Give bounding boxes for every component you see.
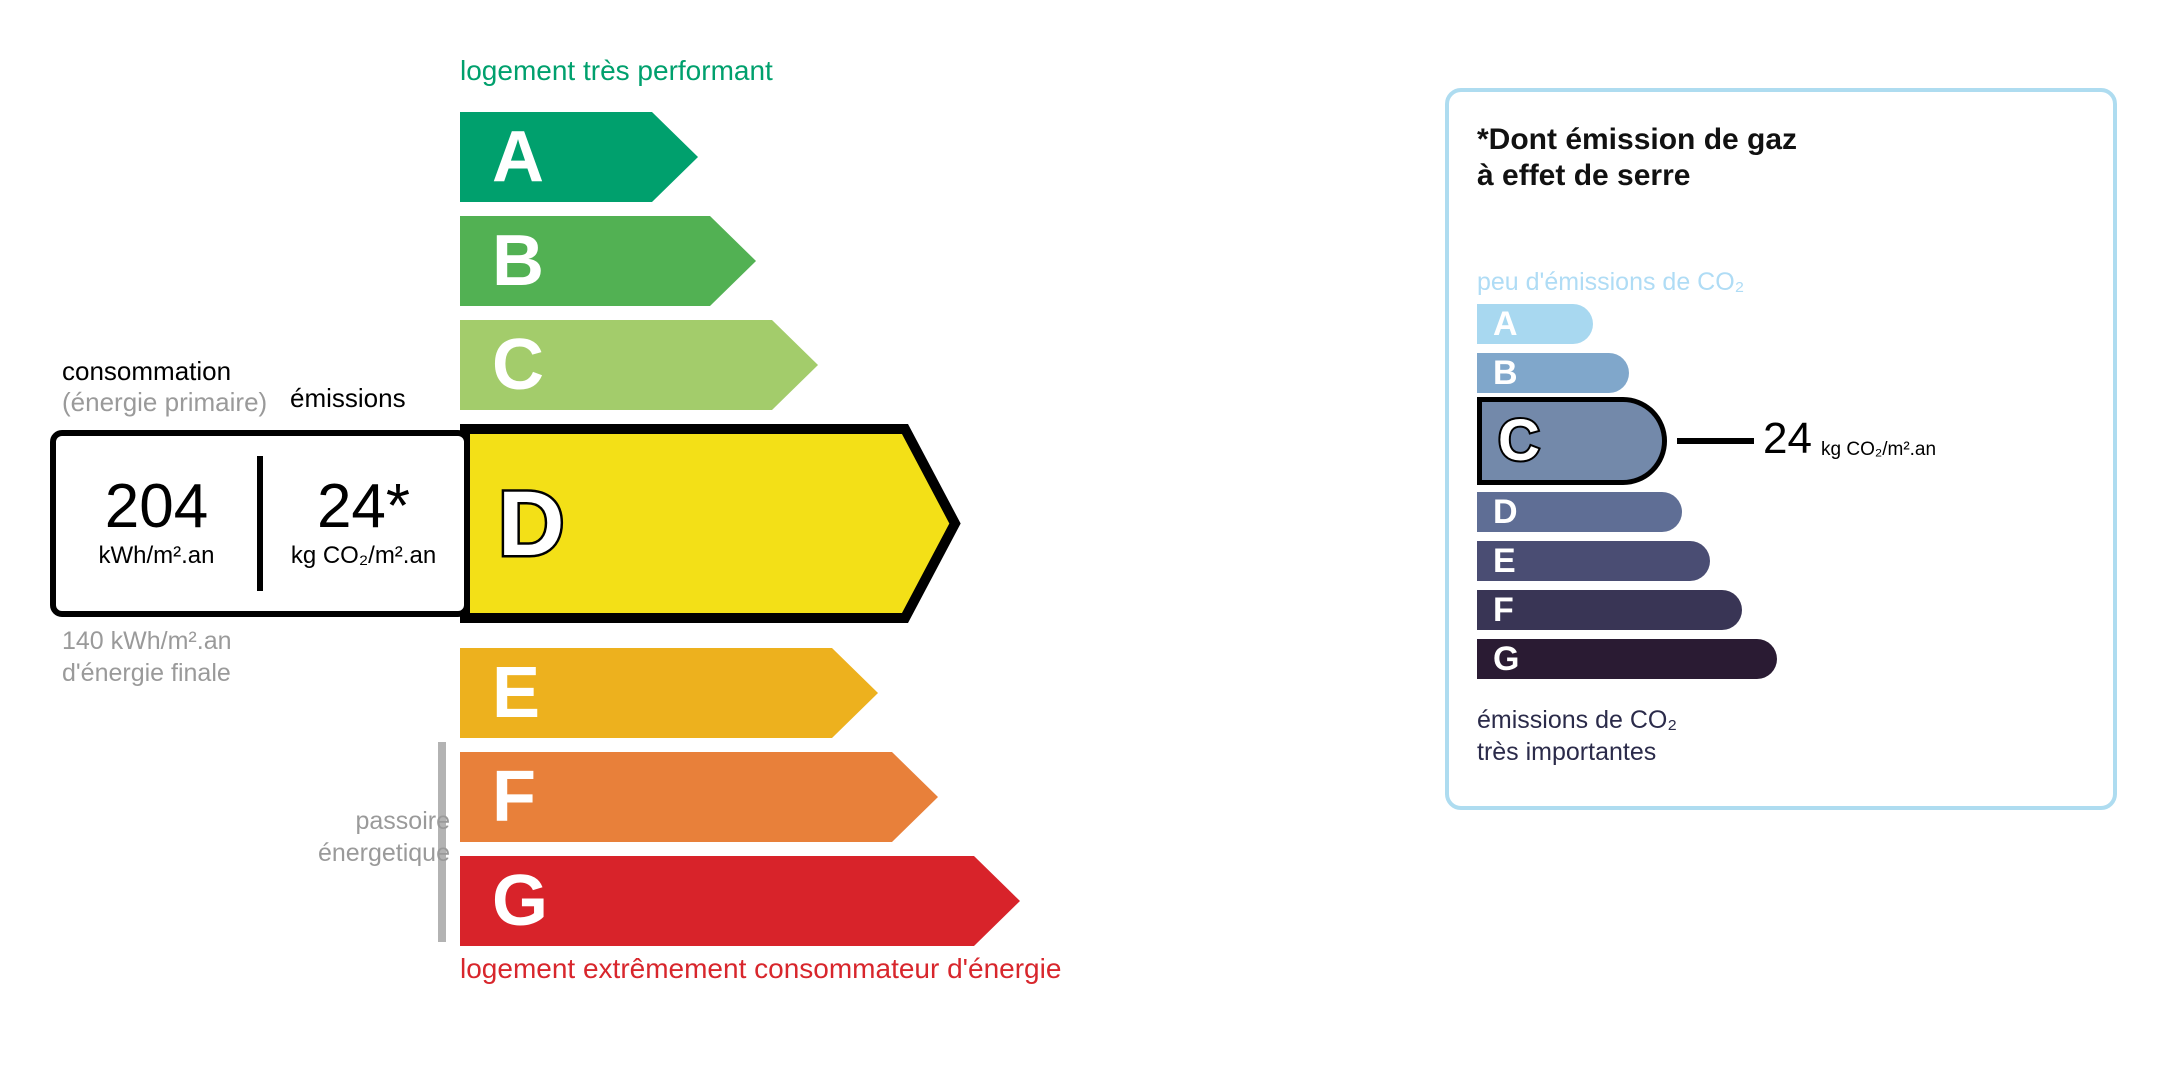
ges-bar-f-letter: F bbox=[1493, 593, 1514, 627]
energy-band-a[interactable]: A bbox=[460, 112, 698, 202]
consumption-unit: kWh/m².an bbox=[56, 542, 257, 571]
emission-unit: kg CO₂/m².an bbox=[263, 542, 464, 571]
energy-band-d-selected[interactable]: D bbox=[460, 424, 960, 623]
ges-top-caption: peu d'émissions de CO₂ bbox=[1477, 270, 1744, 295]
passoire-label: passoire énergetique bbox=[195, 805, 450, 869]
ges-bar-d[interactable]: D bbox=[1477, 492, 1682, 532]
greenhouse-gas-panel: *Dont émission de gaz à effet de serre p… bbox=[1445, 88, 2117, 810]
ges-panel-title: *Dont émission de gaz à effet de serre bbox=[1477, 122, 1797, 194]
emissions-header: émissions bbox=[290, 383, 406, 414]
ges-bar-b-letter: B bbox=[1493, 356, 1518, 390]
energy-band-b-letter: B bbox=[492, 225, 544, 297]
ges-bar-a-letter: A bbox=[1493, 307, 1518, 341]
ges-bar-f[interactable]: F bbox=[1477, 590, 1742, 630]
energy-band-b[interactable]: B bbox=[460, 216, 756, 306]
scale-top-caption: logement très performant bbox=[460, 57, 773, 85]
consumption-header-line2: (énergie primaire) bbox=[62, 387, 267, 418]
energy-band-c-letter: C bbox=[492, 329, 544, 401]
emission-cell: 24* kg CO₂/m².an bbox=[263, 476, 464, 571]
consumption-header: consommation (énergie primaire) bbox=[62, 356, 267, 417]
energy-performance-scale: logement très performant consommation (é… bbox=[0, 0, 1380, 1079]
ges-bottom-caption: émissions de CO₂ très importantes bbox=[1477, 704, 1677, 768]
final-energy-note: 140 kWh/m².an d'énergie finale bbox=[62, 625, 232, 689]
ges-bar-a[interactable]: A bbox=[1477, 304, 1593, 344]
energy-band-g-letter: G bbox=[492, 865, 548, 937]
ges-bar-d-letter: D bbox=[1493, 495, 1518, 529]
emission-value: 24* bbox=[263, 476, 464, 538]
energy-band-e-letter: E bbox=[492, 657, 540, 729]
ges-bar-c-selected[interactable]: C bbox=[1477, 397, 1667, 485]
ges-bar-b[interactable]: B bbox=[1477, 353, 1629, 393]
energy-band-f[interactable]: F bbox=[460, 752, 938, 842]
measurement-box: 204 kWh/m².an 24* kg CO₂/m².an bbox=[50, 430, 470, 617]
ges-value: 24 bbox=[1763, 417, 1812, 461]
passoire-line2: énergetique bbox=[195, 837, 450, 869]
passoire-line1: passoire bbox=[195, 805, 450, 837]
ges-bottom-line1: émissions de CO₂ bbox=[1477, 704, 1677, 736]
consumption-header-line1: consommation bbox=[62, 356, 267, 387]
ges-value-unit: kg CO₂/m².an bbox=[1821, 440, 1936, 459]
energy-band-c[interactable]: C bbox=[460, 320, 818, 410]
energy-band-g[interactable]: G bbox=[460, 856, 1020, 946]
ges-bottom-line2: très importantes bbox=[1477, 736, 1677, 768]
ges-bar-e[interactable]: E bbox=[1477, 541, 1710, 581]
ges-bar-e-letter: E bbox=[1493, 544, 1516, 578]
energy-band-e[interactable]: E bbox=[460, 648, 878, 738]
final-energy-line1: 140 kWh/m².an bbox=[62, 625, 232, 657]
ges-title-line1: *Dont émission de gaz bbox=[1477, 122, 1797, 158]
scale-bottom-caption: logement extrêmement consommateur d'éner… bbox=[460, 955, 1061, 983]
consumption-cell: 204 kWh/m².an bbox=[56, 476, 257, 571]
final-energy-line2: d'énergie finale bbox=[62, 657, 232, 689]
energy-band-f-letter: F bbox=[492, 761, 536, 833]
ges-title-line2: à effet de serre bbox=[1477, 158, 1797, 194]
energy-band-d-letter: D bbox=[498, 478, 564, 570]
ges-leader-line bbox=[1677, 438, 1754, 444]
ges-bar-g-letter: G bbox=[1493, 642, 1519, 676]
ges-bar-g[interactable]: G bbox=[1477, 639, 1777, 679]
consumption-value: 204 bbox=[56, 476, 257, 538]
ges-bar-c-letter: C bbox=[1498, 412, 1540, 470]
energy-band-a-letter: A bbox=[492, 121, 544, 193]
